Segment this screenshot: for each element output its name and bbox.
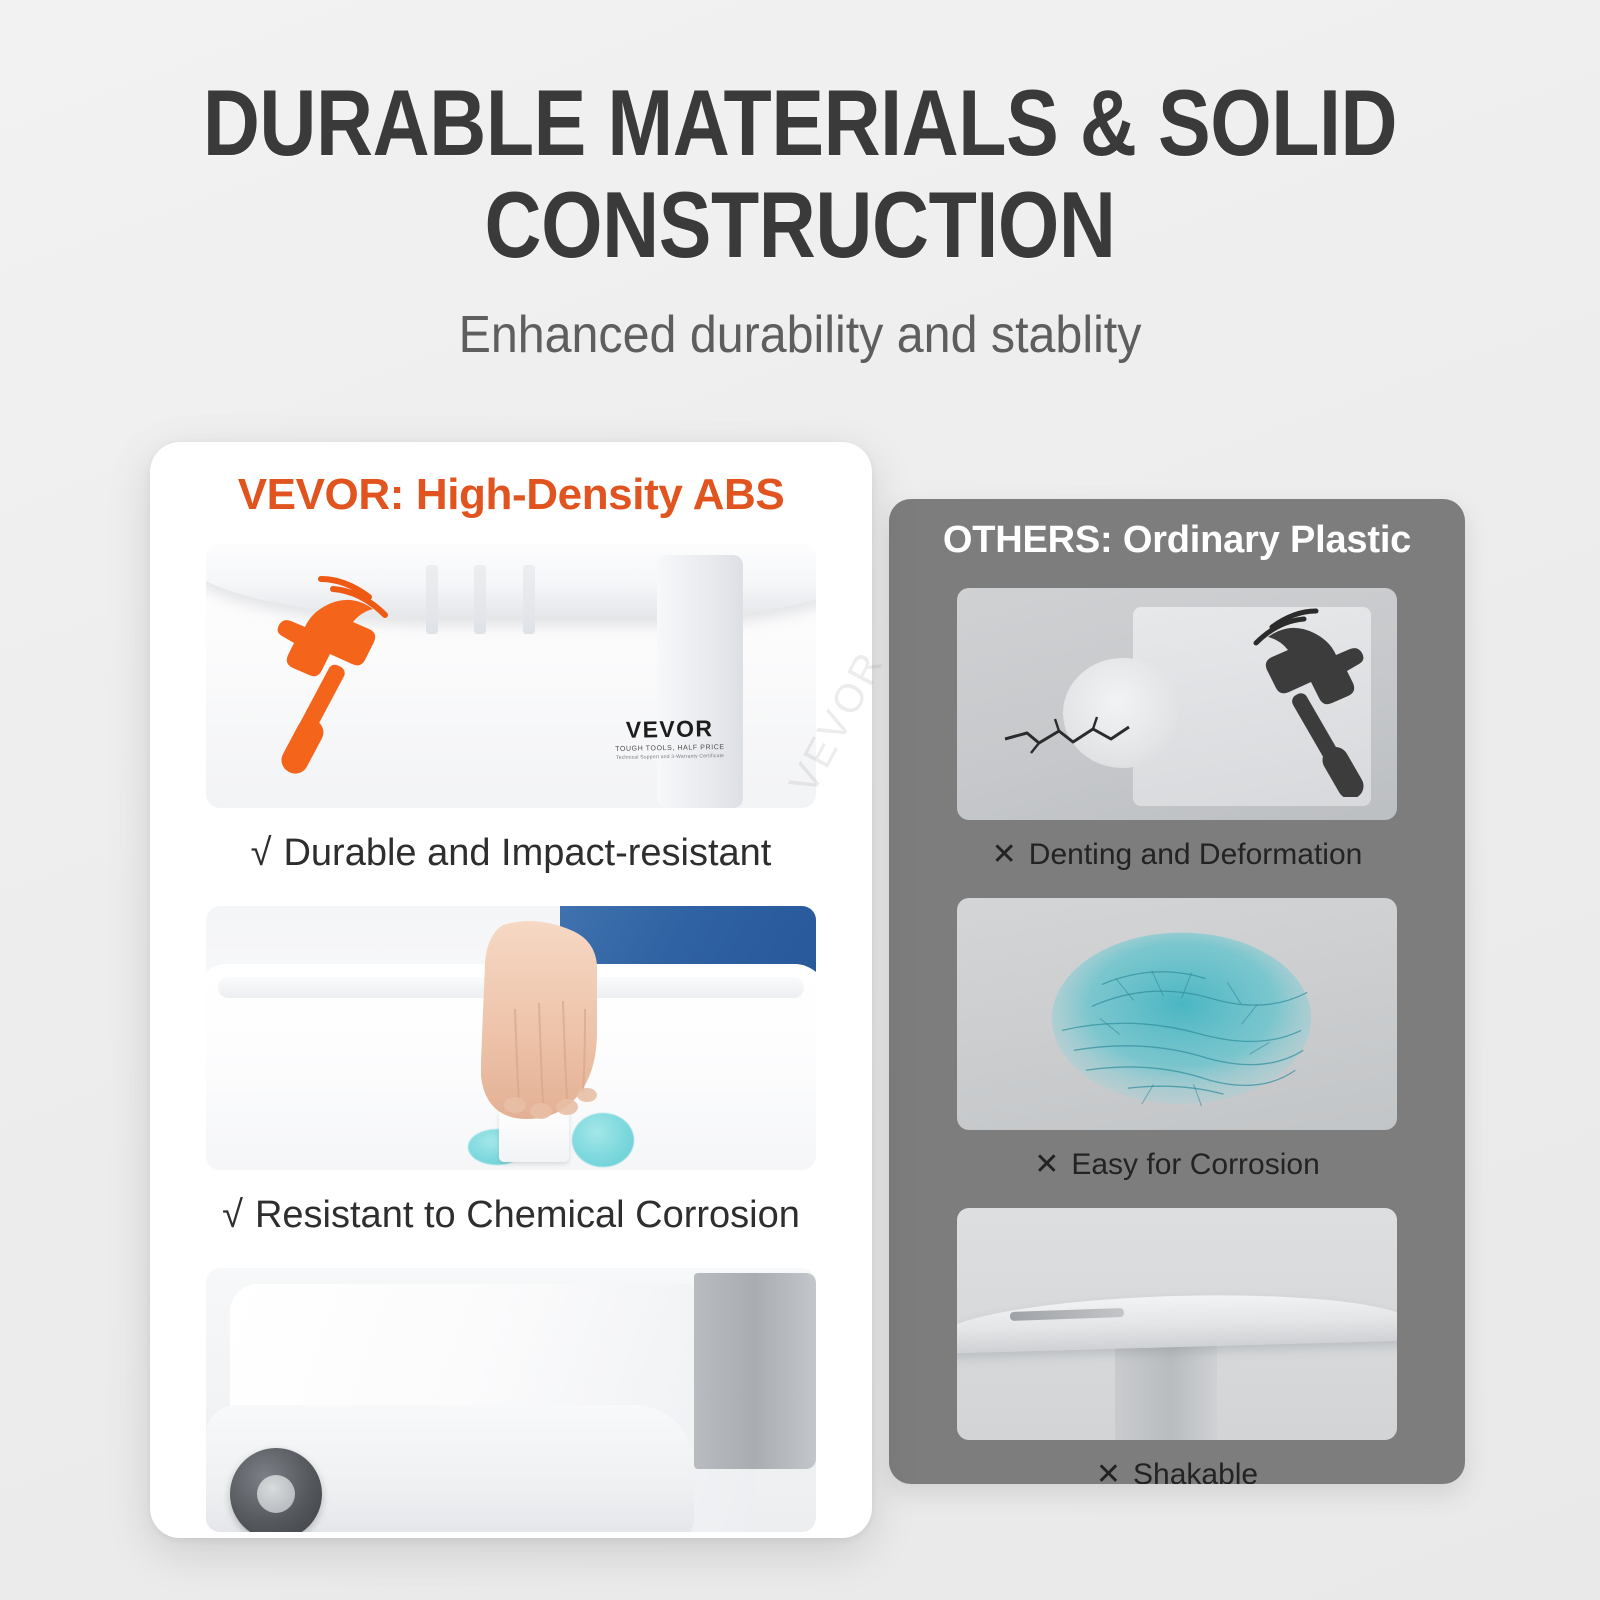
cross-icon-2: ✕	[1034, 1148, 1059, 1181]
check-icon-1: √	[251, 832, 272, 874]
cart-leg	[657, 555, 743, 808]
cart-rib	[523, 565, 535, 634]
infographic-canvas: DURABLE MATERIALS & SOLID CONSTRUCTION E…	[0, 0, 1600, 1600]
hand-wipe-icon	[206, 906, 816, 1170]
others-feature-shakable: ✕Shakable	[889, 1208, 1465, 1484]
hand-icon	[481, 917, 611, 1132]
vevor-panel-heading: VEVOR: High-Density ABS	[150, 470, 872, 520]
vevor-logo: VEVOR TOUGH TOOLS, HALF PRICE Technical …	[615, 716, 725, 762]
vevor-caption-1: √Durable and Impact-resistant	[150, 808, 872, 872]
vevor-feature-stability: √Enhanced Stability	[150, 1268, 872, 1538]
vevor-feature-chemical: √Resistant to Chemical Corrosion	[150, 906, 872, 1234]
vevor-feature-impact: VEVOR TOUGH TOOLS, HALF PRICE Technical …	[150, 544, 872, 872]
others-caption-3: ✕Shakable	[889, 1440, 1465, 1484]
vevor-logo-word: VEVOR	[615, 716, 725, 745]
table-leg	[1115, 1343, 1216, 1440]
cross-icon-1: ✕	[992, 838, 1017, 871]
others-feature-corrosion: ✕Easy for Corrosion	[889, 898, 1465, 1180]
vevor-logo-tagline: TOUGH TOOLS, HALF PRICE	[615, 745, 725, 754]
cart-rib	[474, 565, 486, 634]
others-panel-heading: OTHERS: Ordinary Plastic	[889, 519, 1465, 562]
wobbly-table-icon	[957, 1208, 1397, 1440]
cart-drawer	[694, 1273, 816, 1468]
corrosion-blotch	[1032, 917, 1331, 1130]
check-icon-2: √	[222, 1194, 243, 1236]
cross-icon-3: ✕	[1096, 1458, 1121, 1484]
vevor-caption-3: √Enhanced Stability	[150, 1532, 872, 1538]
corrosion-icon	[957, 898, 1397, 1130]
others-feature-denting: ✕Denting and Deformation	[889, 588, 1465, 870]
others-caption-2: ✕Easy for Corrosion	[889, 1130, 1465, 1180]
hammer-orange-icon	[249, 565, 439, 777]
hammer-black-icon	[1198, 597, 1388, 797]
cracked-hammer-icon	[957, 588, 1397, 820]
caster-wheel-icon	[206, 1268, 816, 1532]
comparison-panels: OTHERS: Ordinary Plastic	[0, 0, 1600, 1600]
hammer-icon: VEVOR TOUGH TOOLS, HALF PRICE Technical …	[206, 544, 816, 808]
vevor-caption-2: √Resistant to Chemical Corrosion	[150, 1170, 872, 1234]
caster-hub	[257, 1475, 295, 1513]
crack-icon	[1001, 709, 1181, 769]
table-top	[957, 1290, 1397, 1354]
vevor-panel: VEVOR: High-Density ABS	[150, 442, 872, 1538]
others-panel: OTHERS: Ordinary Plastic	[889, 499, 1465, 1484]
others-caption-1: ✕Denting and Deformation	[889, 820, 1465, 870]
